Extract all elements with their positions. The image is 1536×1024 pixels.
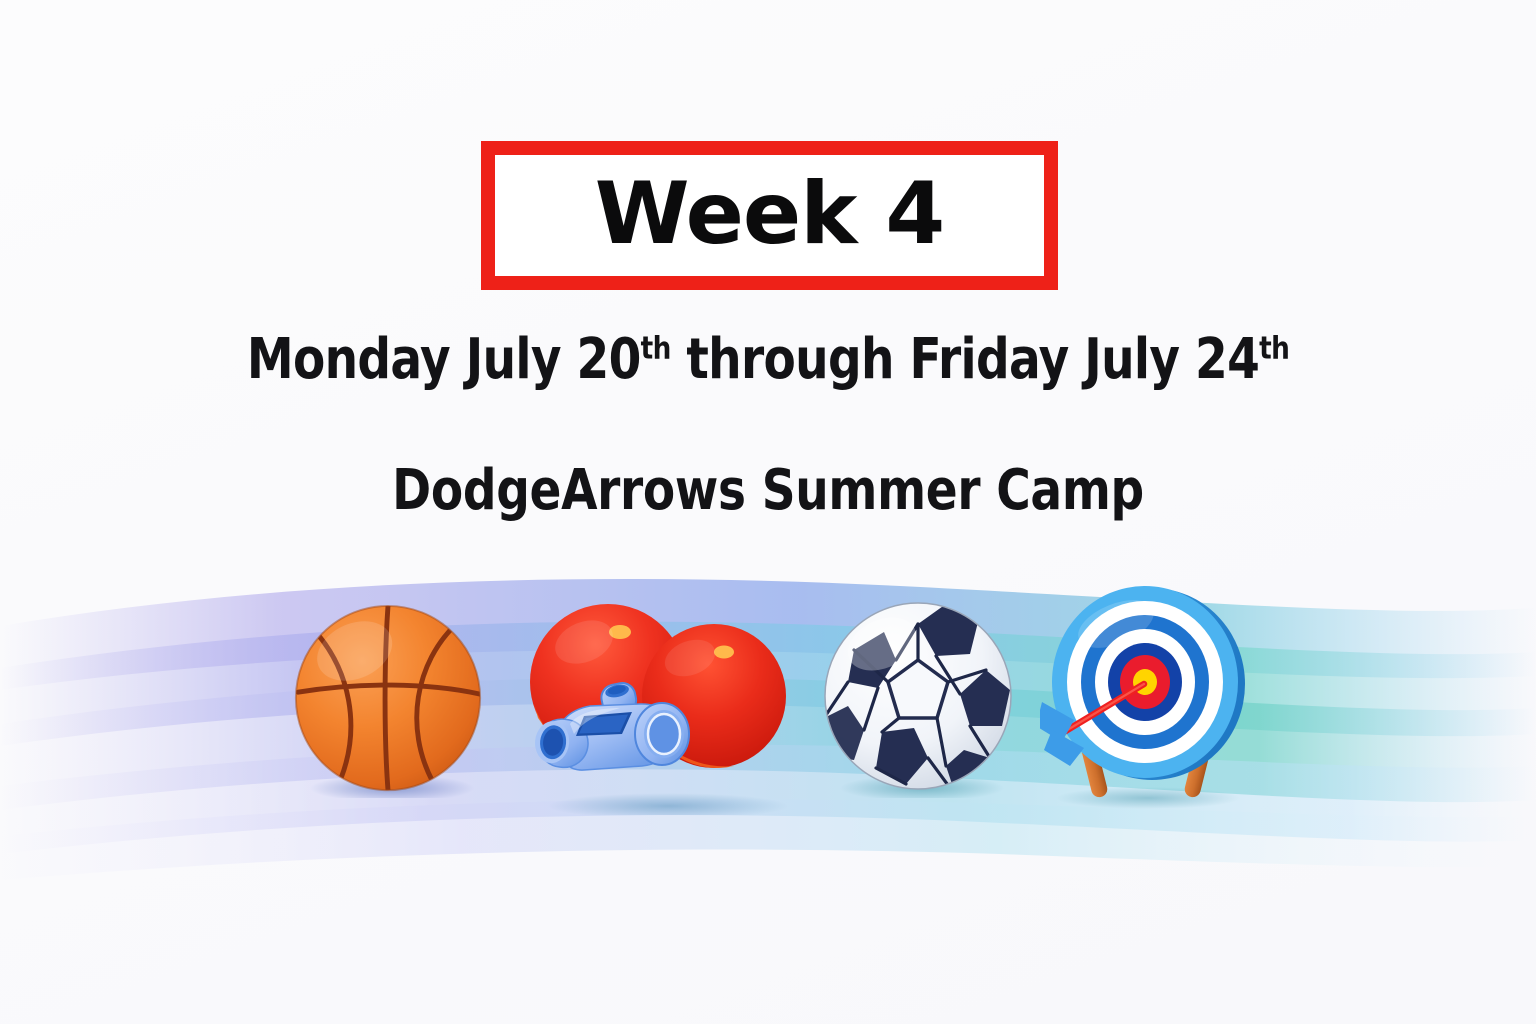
dodgeballs-and-whistle-icon	[528, 600, 798, 815]
poster-canvas: Week 4 Monday July 20th through Friday J…	[0, 0, 1536, 1024]
archery-target-icon	[1040, 580, 1255, 810]
page-title: Week 4	[595, 171, 944, 257]
date-ordinal-suffix-end: th	[1259, 330, 1289, 366]
week-title-box: Week 4	[481, 141, 1058, 290]
date-prefix: Monday July 20	[247, 327, 641, 392]
camp-name-line: DodgeArrows Summer Camp	[123, 458, 1413, 523]
date-ordinal-suffix-start: th	[641, 330, 671, 366]
date-range-line: Monday July 20th through Friday July 24t…	[123, 327, 1413, 392]
soccer-ball-icon	[818, 598, 1018, 798]
date-middle: through Friday July 24	[671, 327, 1260, 392]
basketball-icon	[290, 602, 486, 798]
